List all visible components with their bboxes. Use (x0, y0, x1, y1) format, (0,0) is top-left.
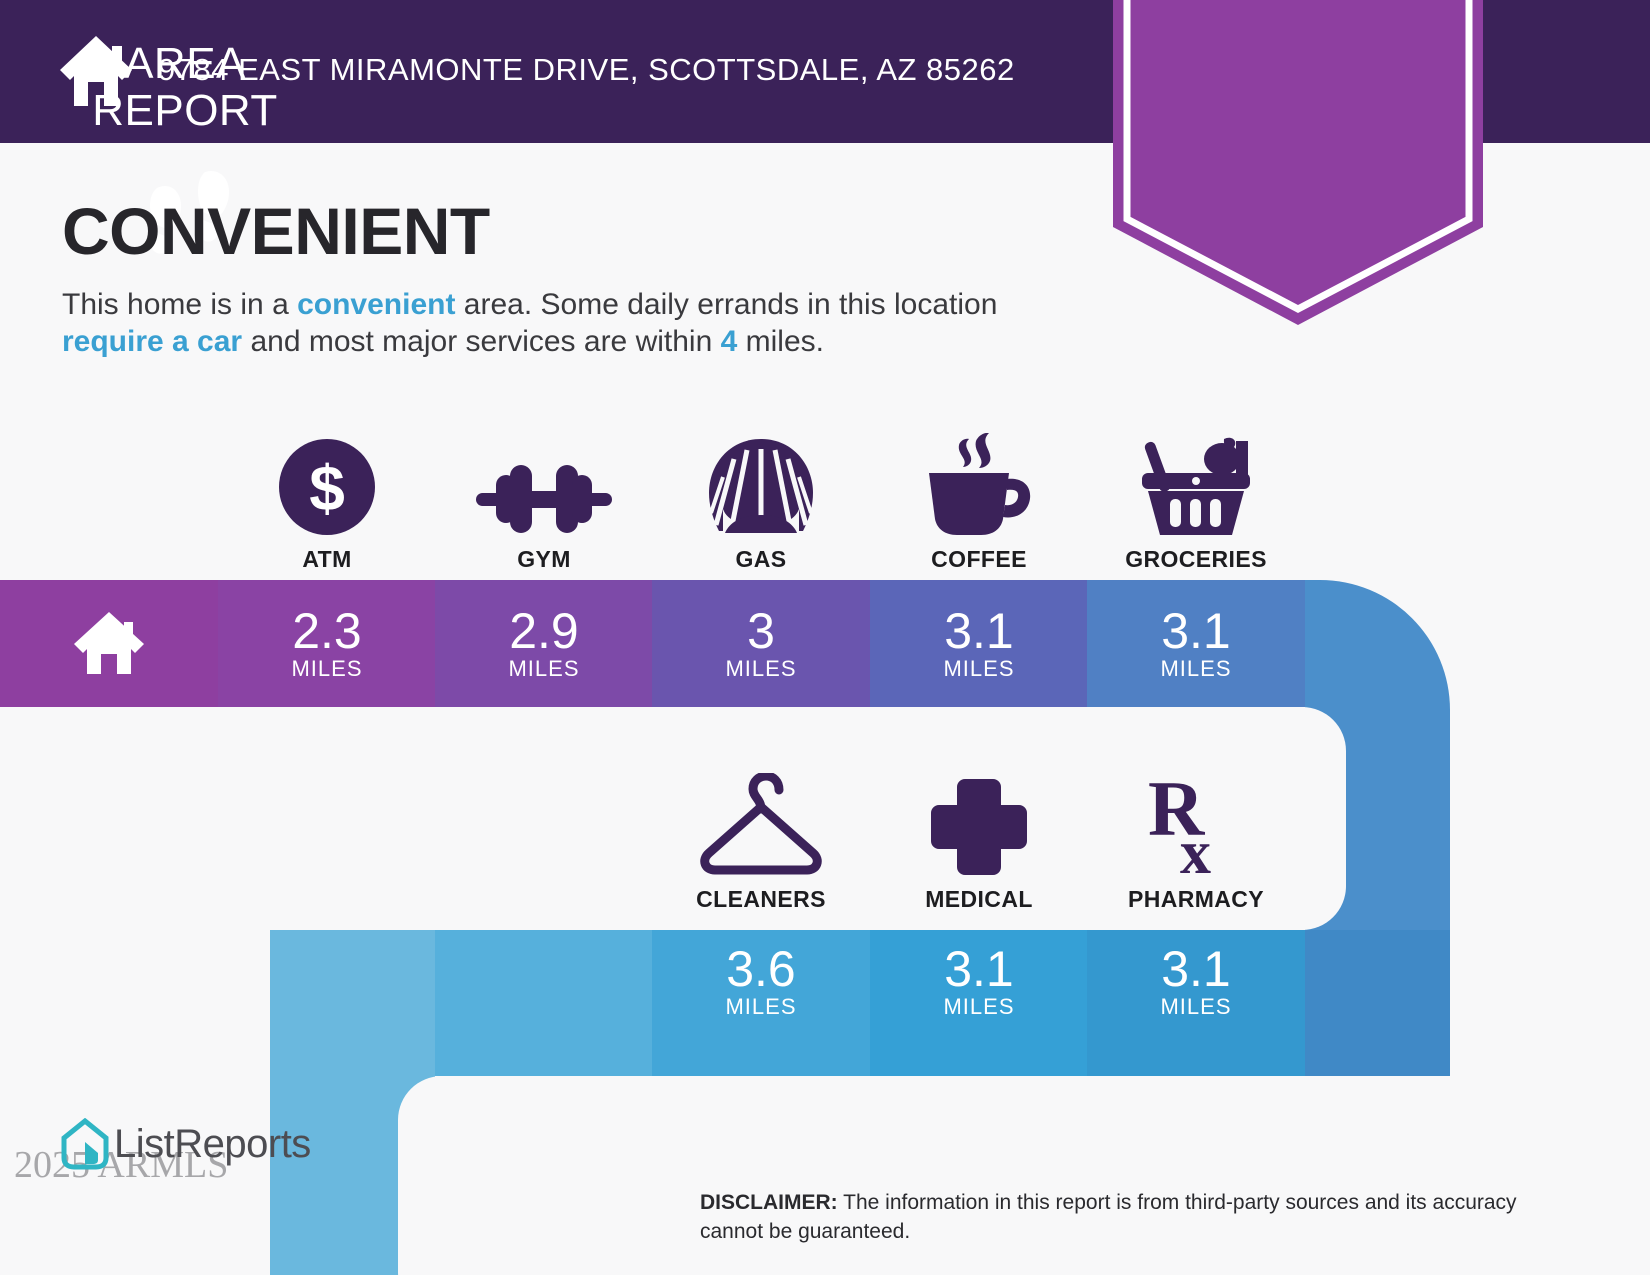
blurb-text-1: This home is in a (62, 288, 297, 321)
value-cell-pharmacy: 3.1 MILES (1087, 944, 1305, 1020)
blurb-accent-require-car: require a car (62, 325, 242, 358)
unit-cleaners: MILES (652, 994, 870, 1020)
unit-atm: MILES (218, 656, 436, 682)
icon-label-gym: GYM (435, 546, 653, 573)
rx-icon: R x (1144, 773, 1248, 877)
icon-label-groceries: GROCERIES (1087, 546, 1305, 573)
shell-icon (707, 437, 815, 537)
coffee-cup-icon (923, 433, 1035, 537)
icon-label-pharmacy: PHARMACY (1087, 886, 1305, 913)
icon-cell-coffee: COFFEE (870, 425, 1088, 573)
icon-cell-pharmacy: R x PHARMACY (1087, 765, 1305, 913)
value-gas: 3 (652, 606, 870, 656)
value-cell-gas: 3 MILES (652, 606, 870, 682)
area-report-page: 9784 EAST MIRAMONTE DRIVE, SCOTTSDALE, A… (0, 0, 1650, 1275)
property-address: 9784 EAST MIRAMONTE DRIVE, SCOTTSDALE, A… (158, 52, 1015, 88)
page-title: CONVENIENT (62, 193, 490, 269)
home-icon (72, 610, 146, 676)
value-pharmacy: 3.1 (1087, 944, 1305, 994)
blurb-accent-convenient: convenient (297, 288, 455, 321)
icon-label-coffee: COFFEE (870, 546, 1088, 573)
blurb-text-4: miles. (737, 325, 824, 358)
icon-cell-atm: $ ATM (218, 425, 436, 573)
clothes-hanger-icon (695, 773, 827, 877)
listreports-house-icon (60, 1118, 110, 1170)
icon-cell-gas: GAS (652, 425, 870, 573)
icon-label-medical: MEDICAL (870, 886, 1088, 913)
value-cell-coffee: 3.1 MILES (870, 606, 1088, 682)
value-coffee: 3.1 (870, 606, 1088, 656)
medical-cross-icon (929, 777, 1029, 877)
icon-cell-gym: GYM (435, 425, 653, 573)
grocery-basket-icon (1138, 429, 1254, 537)
value-cleaners: 3.6 (652, 944, 870, 994)
icon-label-gas: GAS (652, 546, 870, 573)
dumbbell-icon (476, 461, 612, 537)
value-medical: 3.1 (870, 944, 1088, 994)
home-icon (58, 34, 134, 108)
icon-cell-medical: MEDICAL (870, 765, 1088, 913)
icon-cell-groceries: GROCERIES (1087, 425, 1305, 573)
unit-gym: MILES (435, 656, 653, 682)
svg-text:x: x (1180, 819, 1211, 877)
unit-coffee: MILES (870, 656, 1088, 682)
icon-label-cleaners: CLEANERS (652, 886, 870, 913)
unit-medical: MILES (870, 994, 1088, 1020)
listreports-logo: ListReports (60, 1118, 311, 1170)
blurb-text-2: area. Some daily errands in this locatio… (455, 288, 997, 321)
value-cell-atm: 2.3 MILES (218, 606, 436, 682)
value-cell-gym: 2.9 MILES (435, 606, 653, 682)
value-gym: 2.9 (435, 606, 653, 656)
disclaimer: DISCLAIMER: The information in this repo… (700, 1188, 1520, 1246)
blurb-accent-miles: 4 (721, 325, 738, 358)
disclaimer-label: DISCLAIMER: (700, 1191, 838, 1214)
blurb-text-3: and most major services are within (242, 325, 721, 358)
unit-gas: MILES (652, 656, 870, 682)
unit-groceries: MILES (1087, 656, 1305, 682)
intro-blurb: This home is in a convenient area. Some … (62, 286, 1082, 360)
area-report-badge (1113, 0, 1483, 325)
value-atm: 2.3 (218, 606, 436, 656)
icon-cell-cleaners: CLEANERS (652, 765, 870, 913)
value-cell-medical: 3.1 MILES (870, 944, 1088, 1020)
dollar-circle-icon: $ (277, 437, 377, 537)
listreports-wordmark: ListReports (114, 1122, 311, 1167)
value-groceries: 3.1 (1087, 606, 1305, 656)
value-cell-cleaners: 3.6 MILES (652, 944, 870, 1020)
value-cell-groceries: 3.1 MILES (1087, 606, 1305, 682)
icon-label-atm: ATM (218, 546, 436, 573)
svg-text:$: $ (309, 452, 345, 524)
unit-pharmacy: MILES (1087, 994, 1305, 1020)
